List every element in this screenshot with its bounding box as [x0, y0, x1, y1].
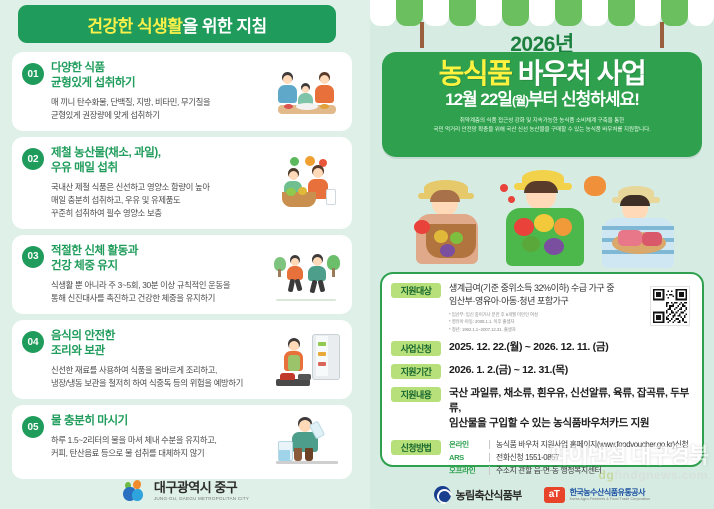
- left-panel-title: 건강한 식생활을 위한 지침: [87, 12, 266, 37]
- detail-value-line1: 2025. 12. 22.(월) ~ 2026. 12. 11. (금): [449, 340, 693, 355]
- guideline-text: 적절한 신체 활동과건강 체중 유지 식생활 뿐 아니라 주 3~5회, 30분…: [51, 244, 272, 305]
- apply-method-key: ARS: [449, 453, 483, 462]
- apply-method-value[interactable]: 전화신청 1551-0857: [496, 452, 693, 463]
- guideline-number-badge: 04: [22, 331, 44, 353]
- healthy-diet-panel: 건강한 식생활을 위한 지침 01 다양한 식품균형있게 섭취하기 매 끼니 탄…: [0, 0, 370, 509]
- guideline-text: 음식의 안전한조리와 보관 신선한 재료를 사용하여 식품을 올바르게 조리하고…: [51, 329, 272, 390]
- poster-root: 건강한 식생활을 위한 지침 01 다양한 식품균형있게 섭취하기 매 끼니 탄…: [0, 0, 714, 509]
- daegu-junggu-name: 대구광역시 중구: [154, 481, 249, 495]
- couple-with-produce-basket-icon: [272, 155, 342, 211]
- left-panel-title-highlight: 건강한 식생활: [87, 17, 182, 36]
- detail-row-support-content: 지원내용 국산 과일류, 채소류, 흰우유, 신선알류, 육류, 잡곡류, 두부…: [391, 386, 693, 432]
- detail-row-apply-methods: 신청방법 온라인 농식품 바우처 지원사업 홈페이지(www.foodvouch…: [391, 439, 693, 478]
- guideline-text: 제철 농산물(채소, 과일),우유 매일 섭취 국내산 제철 식품은 신선하고 …: [51, 146, 272, 220]
- at-name: 한국농수산식품유통공사: [570, 488, 651, 497]
- at-corporation-logo: aT 한국농수산식품유통공사 Korea Agro-Fisheries & Fo…: [544, 487, 651, 503]
- detail-value: 온라인 농식품 바우처 지원사업 홈페이지(www.foodvoucher.go…: [449, 439, 693, 478]
- guideline-card: 04 음식의 안전한조리와 보관 신선한 재료를 사용하여 식품을 올바르게 조…: [12, 320, 352, 399]
- guideline-card: 03 적절한 신체 활동과건강 체중 유지 식생활 뿐 아니라 주 3~5회, …: [12, 235, 352, 314]
- daegu-junggu-name-block: 대구광역시 중구 JUNG-GU, DAEGU METROPOLITAN CIT…: [154, 481, 249, 500]
- farmer-with-basket-icon: [410, 180, 496, 266]
- jogging-couple-park-icon: [272, 247, 342, 303]
- apply-method-value: 주소지 관할 읍·면·동 행정복지센터: [496, 465, 693, 476]
- detail-label: 지원기간: [391, 364, 441, 379]
- guideline-title: 제철 농산물(채소, 과일),우유 매일 섭취: [51, 146, 268, 176]
- pumpkin-icon: [584, 176, 606, 196]
- daegu-junggu-name-en: JUNG-GU, DAEGU METROPOLITAN CITY: [154, 496, 249, 501]
- left-panel-title-rest: 을 위한 지침: [182, 17, 266, 36]
- guideline-title: 음식의 안전한조리와 보관: [51, 329, 268, 359]
- farmer-with-vegetables-icon: [498, 170, 596, 268]
- detail-value-line2: 임산물을 구입할 수 있는 농식품바우처카드 지원: [449, 416, 693, 431]
- apply-date-suffix: 부터 신청하세요!: [528, 90, 639, 109]
- at-name-block: 한국농수산식품유통공사 Korea Agro-Fisheries & Food …: [570, 488, 651, 501]
- guideline-description: 매 끼니 탄수화물, 단백질, 지방, 비타민, 무기질을균형있게 권장량에 맞…: [51, 96, 268, 122]
- program-description-line1: 취약계층의 식품 접근성 강화 및 지속가능한 농식품 소비체계 구축을 통한: [394, 117, 690, 127]
- apply-method-key: 오프라인: [449, 465, 483, 476]
- family-dining-table-icon: [272, 64, 342, 120]
- guideline-title: 다양한 식품균형있게 섭취하기: [51, 61, 268, 91]
- man-drinking-water-icon: [272, 414, 342, 470]
- apply-method-online: 온라인 농식품 바우처 지원사업 홈페이지(www.foodvoucher.go…: [449, 439, 693, 450]
- guideline-card: 05 물 충분히 마시기 하루 1.5~2리터의 물을 마셔 체내 수분을 유지…: [12, 405, 352, 479]
- apply-method-offline: 오프라인 주소지 관할 읍·면·동 행정복지센터: [449, 465, 693, 476]
- guideline-description: 신선한 재료를 사용하여 식품을 올바르게 조리하고,냉장/냉동 보관을 철저히…: [51, 364, 268, 390]
- farmers-produce-illustration: [370, 162, 714, 272]
- program-title-highlight: 농식품: [439, 58, 512, 89]
- child-with-meat-tray-icon: [598, 186, 684, 268]
- apply-method-table: 온라인 농식품 바우처 지원사업 홈페이지(www.foodvoucher.go…: [449, 439, 693, 476]
- apply-method-divider: [489, 440, 490, 449]
- at-name-en: Korea Agro-Fisheries & Food Trade Corpor…: [570, 497, 651, 501]
- program-description-line2: 국민 먹거리 안전망 확충을 위해 국산 신선 농산물을 구매할 수 있는 농식…: [394, 126, 690, 136]
- apply-method-divider: [489, 453, 490, 462]
- guideline-number-badge: 03: [22, 246, 44, 268]
- program-title-board: 농식품 바우처 사업 12월 22일(월)부터 신청하세요! 취약계층의 식품 …: [382, 52, 702, 157]
- detail-value: 2026. 1. 2.(금) ~ 12. 31.(목): [449, 363, 693, 378]
- program-title-rest: 바우처 사업: [511, 58, 645, 89]
- guideline-text: 다양한 식품균형있게 섭취하기 매 끼니 탄수화물, 단백질, 지방, 비타민,…: [51, 61, 272, 122]
- apply-date-weekday: (월): [512, 94, 528, 108]
- guideline-number-badge: 02: [22, 148, 44, 170]
- apply-date-value: 12월 22일: [445, 90, 512, 109]
- detail-label: 지원대상: [391, 283, 441, 298]
- ministry-name: 농림축산식품부: [456, 487, 522, 503]
- apply-method-ars: ARS 전화신청 1551-0857: [449, 452, 693, 463]
- program-apply-date: 12월 22일(월)부터 신청하세요!: [382, 91, 702, 110]
- apply-method-value[interactable]: 농식품 바우처 지원사업 홈페이지(www.foodvoucher.go.kr)…: [496, 439, 693, 450]
- qr-code-image: [653, 289, 687, 323]
- guideline-text: 물 충분히 마시기 하루 1.5~2리터의 물을 마셔 체내 수분을 유지하고,…: [51, 414, 272, 460]
- guideline-title: 물 충분히 마시기: [51, 414, 268, 429]
- at-mark-icon: aT: [544, 487, 565, 503]
- guideline-number-badge: 05: [22, 416, 44, 438]
- woman-cooking-refrigerator-icon: [272, 332, 342, 388]
- detail-row-support-period: 지원기간 2026. 1. 2.(금) ~ 12. 31.(목): [391, 363, 693, 379]
- detail-value-line1: 2026. 1. 2.(금) ~ 12. 31.(목): [449, 363, 693, 378]
- detail-label: 사업신청: [391, 341, 441, 356]
- guideline-description: 하루 1.5~2리터의 물을 마셔 체내 수분을 유지하고,커피, 탄산음료 등…: [51, 434, 268, 460]
- guideline-list: 01 다양한 식품균형있게 섭취하기 매 끼니 탄수화물, 단백질, 지방, 비…: [12, 52, 352, 485]
- detail-label: 신청방법: [391, 440, 441, 455]
- program-details-card: 지원대상 생계급여(기준 중위소득 32%이하) 수급 가구 중 임산부·영유아…: [380, 272, 704, 467]
- left-panel-footer: 대구광역시 중구 JUNG-GU, DAEGU METROPOLITAN CIT…: [0, 479, 370, 503]
- apply-method-divider: [489, 466, 490, 475]
- qr-code[interactable]: [650, 286, 690, 326]
- ministry-logo: 농림축산식품부: [434, 486, 522, 503]
- left-panel-header: 건강한 식생활을 위한 지침: [18, 5, 336, 43]
- detail-row-application-period: 사업신청 2025. 12. 22.(월) ~ 2026. 12. 11. (금…: [391, 340, 693, 356]
- voucher-program-panel: 2026년 농식품 바우처 사업 12월 22일(월)부터 신청하세요! 취약계…: [370, 0, 714, 509]
- guideline-card: 02 제철 농산물(채소, 과일),우유 매일 섭취 국내산 제철 식품은 신선…: [12, 137, 352, 229]
- guideline-description: 식생활 뿐 아니라 주 3~5회, 30분 이상 규칙적인 운동을통해 신진대사…: [51, 279, 268, 305]
- guideline-number-badge: 01: [22, 63, 44, 85]
- detail-label: 지원내용: [391, 387, 441, 402]
- guideline-card: 01 다양한 식품균형있게 섭취하기 매 끼니 탄수화물, 단백질, 지방, 비…: [12, 52, 352, 131]
- apply-method-key: 온라인: [449, 439, 483, 450]
- guideline-title: 적절한 신체 활동과건강 체중 유지: [51, 244, 268, 274]
- program-title: 농식품 바우처 사업: [382, 59, 702, 89]
- detail-value: 국산 과일류, 채소류, 흰우유, 신선알류, 육류, 잡곡류, 두부류, 임산…: [449, 386, 693, 432]
- government-emblem-icon: [434, 486, 451, 503]
- daegu-junggu-logo-icon: [121, 479, 147, 503]
- detail-value: 2025. 12. 22.(월) ~ 2026. 12. 11. (금): [449, 340, 693, 355]
- detail-value-line1: 국산 과일류, 채소류, 흰우유, 신선알류, 육류, 잡곡류, 두부류,: [449, 386, 693, 416]
- program-description: 취약계층의 식품 접근성 강화 및 지속가능한 농식품 소비체계 구축을 통한 …: [382, 117, 702, 136]
- right-panel-footer: 농림축산식품부 aT 한국농수산식품유통공사 Korea Agro-Fisher…: [370, 486, 714, 503]
- guideline-description: 국내산 제철 식품은 신선하고 영양소 함량이 높아매일 충분히 섭취하고, 우…: [51, 181, 268, 220]
- detail-row-eligibility: 지원대상 생계급여(기준 중위소득 32%이하) 수급 가구 중 임산부·영유아…: [391, 282, 693, 333]
